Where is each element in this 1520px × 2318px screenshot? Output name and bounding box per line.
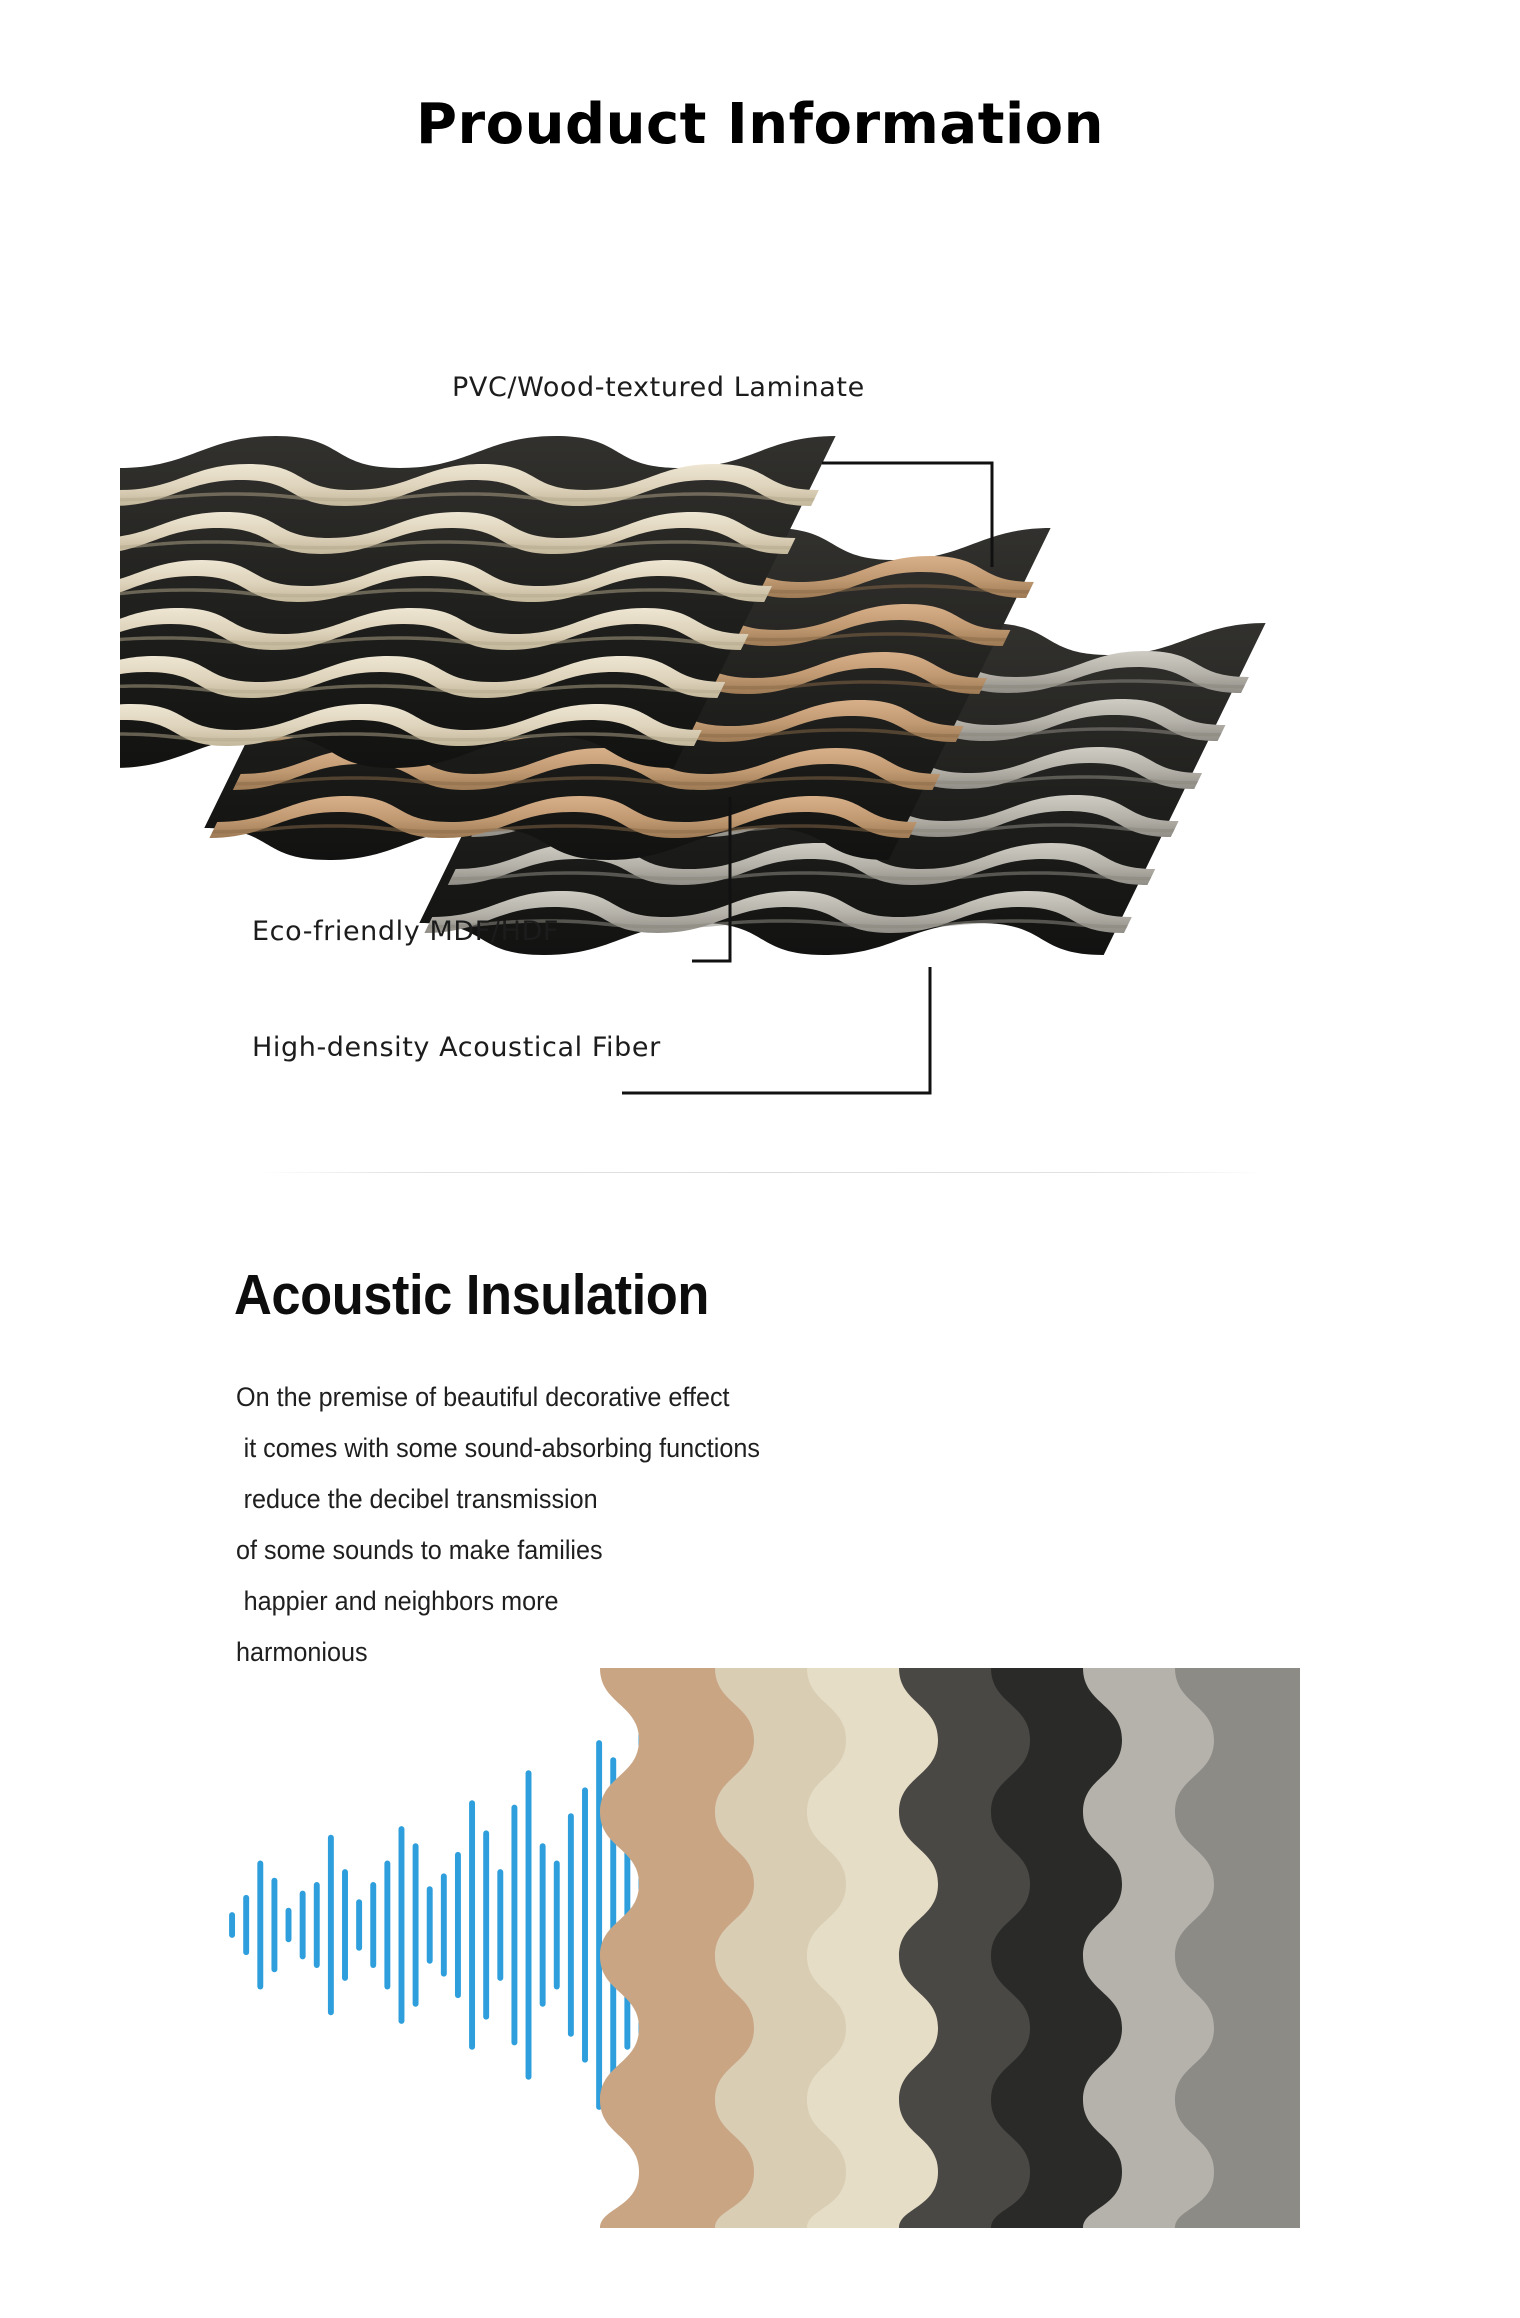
page-title: Prouduct Information — [0, 92, 1520, 157]
waveform-bar — [483, 1830, 489, 2019]
description-line: it comes with some sound-absorbing funct… — [236, 1423, 958, 1474]
waveform-bar — [300, 1891, 306, 1960]
waveform-bar — [413, 1843, 419, 2006]
callout-label-mdf: Eco-friendly MDF/HDF — [252, 916, 559, 947]
waveform-bar — [286, 1908, 292, 1942]
leader-line-laminate — [820, 455, 1000, 575]
waveform-bar — [243, 1895, 249, 1955]
section-divider — [258, 1172, 1263, 1173]
waveform-bar — [370, 1882, 376, 1968]
waveform-bar — [271, 1878, 277, 1973]
waveform-bar — [554, 1861, 560, 1990]
waveform-bar — [455, 1852, 461, 1998]
description-line: of some sounds to make families — [236, 1525, 958, 1576]
leader-line-fiber — [620, 965, 940, 1105]
waveform-bar — [469, 1800, 475, 2049]
waveform-bar — [314, 1882, 320, 1968]
waveform-bar — [540, 1843, 546, 2006]
waveform-bar — [356, 1899, 362, 1951]
callout-label-fiber: High-density Acoustical Fiber — [252, 1032, 661, 1063]
waveform-bar — [497, 1869, 503, 1981]
callout-label-laminate: PVC/Wood-textured Laminate — [452, 372, 865, 403]
waveform-bar — [568, 1813, 574, 2037]
waveform-bar — [328, 1835, 334, 2016]
leader-line-mdf — [690, 795, 750, 970]
description-line: On the premise of beautiful decorative e… — [236, 1372, 958, 1423]
waveform-bar — [511, 1805, 517, 2046]
acoustic-insulation-description: On the premise of beautiful decorative e… — [236, 1372, 996, 1678]
wavy-slat-wall-graphic — [600, 1668, 1300, 2228]
description-line: happier and neighbors more — [236, 1576, 958, 1627]
waveform-bar — [257, 1861, 263, 1990]
acoustic-insulation-heading: Acoustic Insulation — [234, 1262, 709, 1328]
waveform-bar — [441, 1873, 447, 1976]
waveform-bar — [582, 1787, 588, 2062]
description-line: reduce the decibel transmission — [236, 1474, 958, 1525]
waveform-bar — [526, 1770, 532, 2080]
waveform-bar — [427, 1886, 433, 1963]
product-information-page: Prouduct Information — [0, 0, 1520, 2318]
waveform-bar — [399, 1826, 405, 2024]
waveform-bar — [229, 1912, 235, 1938]
waveform-bar — [342, 1869, 348, 1981]
waveform-bar — [384, 1861, 390, 1990]
